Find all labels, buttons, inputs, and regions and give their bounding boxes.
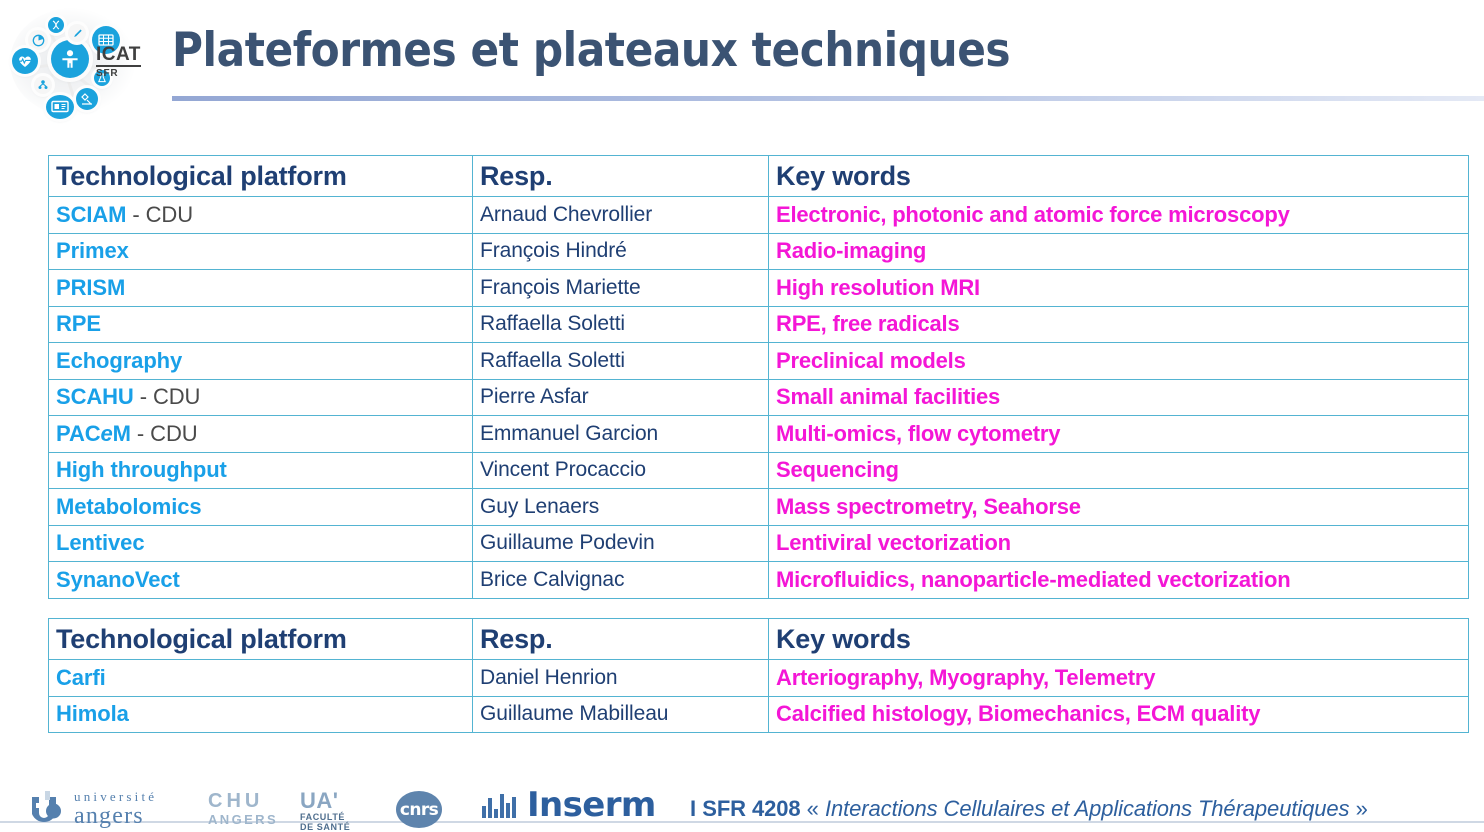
icat-name: ICAT bbox=[96, 45, 141, 67]
cell-platform: PRISM bbox=[49, 270, 473, 307]
slide-header: ICAT SFR Plateformes et plateaux techniq… bbox=[0, 0, 1484, 118]
cell-keywords: Radio-imaging bbox=[769, 233, 1469, 270]
sfr-code: SFR 4208 bbox=[702, 796, 800, 821]
platform-name: Primex bbox=[56, 238, 129, 263]
table-row: LentivecGuillaume PodevinLentiviral vect… bbox=[49, 525, 1469, 562]
chu-angers-logo: CHU ANGERS bbox=[208, 791, 278, 827]
table-header-row: Technological platform Resp. Key words bbox=[49, 619, 1469, 660]
cell-resp: Pierre Asfar bbox=[473, 379, 769, 416]
column-header-platform: Technological platform bbox=[49, 156, 473, 197]
platform-name: Himola bbox=[56, 701, 129, 726]
cell-resp: Arnaud Chevrollier bbox=[473, 197, 769, 234]
table-row: PRISMFrançois MarietteHigh resolution MR… bbox=[49, 270, 1469, 307]
table-row: SynanoVectBrice CalvignacMicrofluidics, … bbox=[49, 562, 1469, 599]
platform-name: Metabolomics bbox=[56, 494, 202, 519]
table-row: High throughputVincent ProcaccioSequenci… bbox=[49, 452, 1469, 489]
logo-node-chart-icon bbox=[28, 30, 48, 50]
title-divider bbox=[172, 96, 1484, 101]
table-row: EchographyRaffaella SolettiPreclinical m… bbox=[49, 343, 1469, 380]
cell-resp: Raffaella Soletti bbox=[473, 306, 769, 343]
cell-resp: Vincent Procaccio bbox=[473, 452, 769, 489]
cell-platform: SCIAM - CDU bbox=[49, 197, 473, 234]
universite-angers-mark-icon bbox=[28, 791, 68, 825]
icat-logo: ICAT SFR bbox=[4, 2, 164, 120]
cell-keywords: Small animal facilities bbox=[769, 379, 1469, 416]
sfr-caption: I SFR 4208 « Interactions Cellulaires et… bbox=[690, 796, 1368, 822]
cnrs-logo: cnrs bbox=[396, 791, 442, 828]
table-row: PrimexFrançois HindréRadio-imaging bbox=[49, 233, 1469, 270]
sfr-close-quote: » bbox=[1356, 796, 1368, 821]
ua-faculte-sante-logo: UA' FACULTÉ DE SANTÉ bbox=[300, 790, 350, 832]
inserm-wordmark: Inserm bbox=[527, 788, 656, 822]
cell-resp: Guy Lenaers bbox=[473, 489, 769, 526]
icat-wordmark: ICAT SFR bbox=[96, 45, 141, 80]
logo-node-dna-icon bbox=[48, 17, 64, 33]
platform-name: SynanoVect bbox=[56, 567, 180, 592]
column-header-keywords: Key words bbox=[769, 156, 1469, 197]
logo-node-pen-icon bbox=[68, 24, 86, 42]
logo-node-monitor-icon bbox=[46, 95, 74, 119]
platform-suffix: - CDU bbox=[131, 421, 198, 446]
platforms-table-secondary: Technological platform Resp. Key words C… bbox=[48, 618, 1469, 733]
universite-angers-wordmark: université angers bbox=[74, 790, 157, 828]
sfr-open-quote: « bbox=[807, 796, 819, 821]
platform-name-italic-letter: e bbox=[101, 421, 113, 446]
platform-name: RPE bbox=[56, 311, 101, 336]
cell-resp: Guillaume Podevin bbox=[473, 525, 769, 562]
cell-platform: Himola bbox=[49, 696, 473, 733]
cell-platform: Carfi bbox=[49, 660, 473, 697]
icat-subtitle: SFR bbox=[96, 67, 141, 80]
column-header-resp: Resp. bbox=[473, 619, 769, 660]
sfr-separator: I bbox=[690, 796, 696, 821]
table-row: SCIAM - CDUArnaud ChevrollierElectronic,… bbox=[49, 197, 1469, 234]
cell-platform: SynanoVect bbox=[49, 562, 473, 599]
logo-node-microscope-icon bbox=[76, 88, 98, 110]
cell-resp: Emmanuel Garcion bbox=[473, 416, 769, 453]
sfr-phrase: Interactions Cellulaires et Applications… bbox=[825, 796, 1349, 821]
column-header-keywords: Key words bbox=[769, 619, 1469, 660]
cell-platform: Metabolomics bbox=[49, 489, 473, 526]
cell-resp: François Hindré bbox=[473, 233, 769, 270]
cnrs-wordmark: cnrs bbox=[396, 791, 442, 828]
table-header-row: Technological platform Resp. Key words bbox=[49, 156, 1469, 197]
cell-platform: SCAHU - CDU bbox=[49, 379, 473, 416]
cell-platform: Echography bbox=[49, 343, 473, 380]
platform-name: SCIAM bbox=[56, 202, 126, 227]
ua-line2: angers bbox=[74, 804, 157, 828]
cell-resp: Daniel Henrion bbox=[473, 660, 769, 697]
cell-keywords: Electronic, photonic and atomic force mi… bbox=[769, 197, 1469, 234]
platform-name: Lentivec bbox=[56, 530, 144, 555]
uas-line2: FACULTÉ bbox=[300, 812, 350, 822]
platform-name: Echography bbox=[56, 348, 182, 373]
cell-keywords: Calcified histology, Biomechanics, ECM q… bbox=[769, 696, 1469, 733]
logo-node-heart-icon bbox=[12, 48, 38, 74]
cell-platform: High throughput bbox=[49, 452, 473, 489]
logo-node-molecule-icon bbox=[34, 76, 52, 94]
cell-keywords: RPE, free radicals bbox=[769, 306, 1469, 343]
table-row: MetabolomicsGuy LenaersMass spectrometry… bbox=[49, 489, 1469, 526]
platform-name: SCAHU bbox=[56, 384, 134, 409]
table-row: CarfiDaniel HenrionArteriography, Myogra… bbox=[49, 660, 1469, 697]
platform-name: PACeM bbox=[56, 421, 131, 446]
cell-resp: Raffaella Soletti bbox=[473, 343, 769, 380]
inserm-bars-icon bbox=[482, 792, 518, 818]
table-row: HimolaGuillaume MabilleauCalcified histo… bbox=[49, 696, 1469, 733]
cell-platform: Lentivec bbox=[49, 525, 473, 562]
cell-platform: Primex bbox=[49, 233, 473, 270]
cell-resp: François Mariette bbox=[473, 270, 769, 307]
platforms-table-primary: Technological platform Resp. Key words S… bbox=[48, 155, 1469, 599]
platform-name: PRISM bbox=[56, 275, 125, 300]
cell-keywords: Mass spectrometry, Seahorse bbox=[769, 489, 1469, 526]
cell-keywords: High resolution MRI bbox=[769, 270, 1469, 307]
chu-line2: ANGERS bbox=[208, 812, 278, 827]
uas-line1: UA' bbox=[300, 790, 350, 812]
page-title: Plateformes et plateaux techniques bbox=[172, 23, 1010, 79]
cell-resp: Guillaume Mabilleau bbox=[473, 696, 769, 733]
table-row: RPERaffaella SolettiRPE, free radicals bbox=[49, 306, 1469, 343]
column-header-platform: Technological platform bbox=[49, 619, 473, 660]
cell-keywords: Preclinical models bbox=[769, 343, 1469, 380]
uas-line3: DE SANTÉ bbox=[300, 822, 350, 832]
logo-node-person-icon bbox=[51, 40, 89, 78]
cell-keywords: Microfluidics, nanoparticle-mediated vec… bbox=[769, 562, 1469, 599]
platform-suffix: - CDU bbox=[134, 384, 201, 409]
inserm-logo: Inserm bbox=[482, 788, 656, 822]
ua-line1: université bbox=[74, 790, 157, 804]
table-row: SCAHU - CDUPierre AsfarSmall animal faci… bbox=[49, 379, 1469, 416]
platform-name: Carfi bbox=[56, 665, 106, 690]
platform-name: High throughput bbox=[56, 457, 227, 482]
chu-line1: CHU bbox=[208, 791, 278, 812]
cell-keywords: Multi-omics, flow cytometry bbox=[769, 416, 1469, 453]
cell-keywords: Sequencing bbox=[769, 452, 1469, 489]
platform-suffix: - CDU bbox=[126, 202, 193, 227]
cell-keywords: Arteriography, Myography, Telemetry bbox=[769, 660, 1469, 697]
cell-platform: PACeM - CDU bbox=[49, 416, 473, 453]
table-row: PACeM - CDUEmmanuel GarcionMulti-omics, … bbox=[49, 416, 1469, 453]
cell-platform: RPE bbox=[49, 306, 473, 343]
cell-keywords: Lentiviral vectorization bbox=[769, 525, 1469, 562]
column-header-resp: Resp. bbox=[473, 156, 769, 197]
cell-resp: Brice Calvignac bbox=[473, 562, 769, 599]
